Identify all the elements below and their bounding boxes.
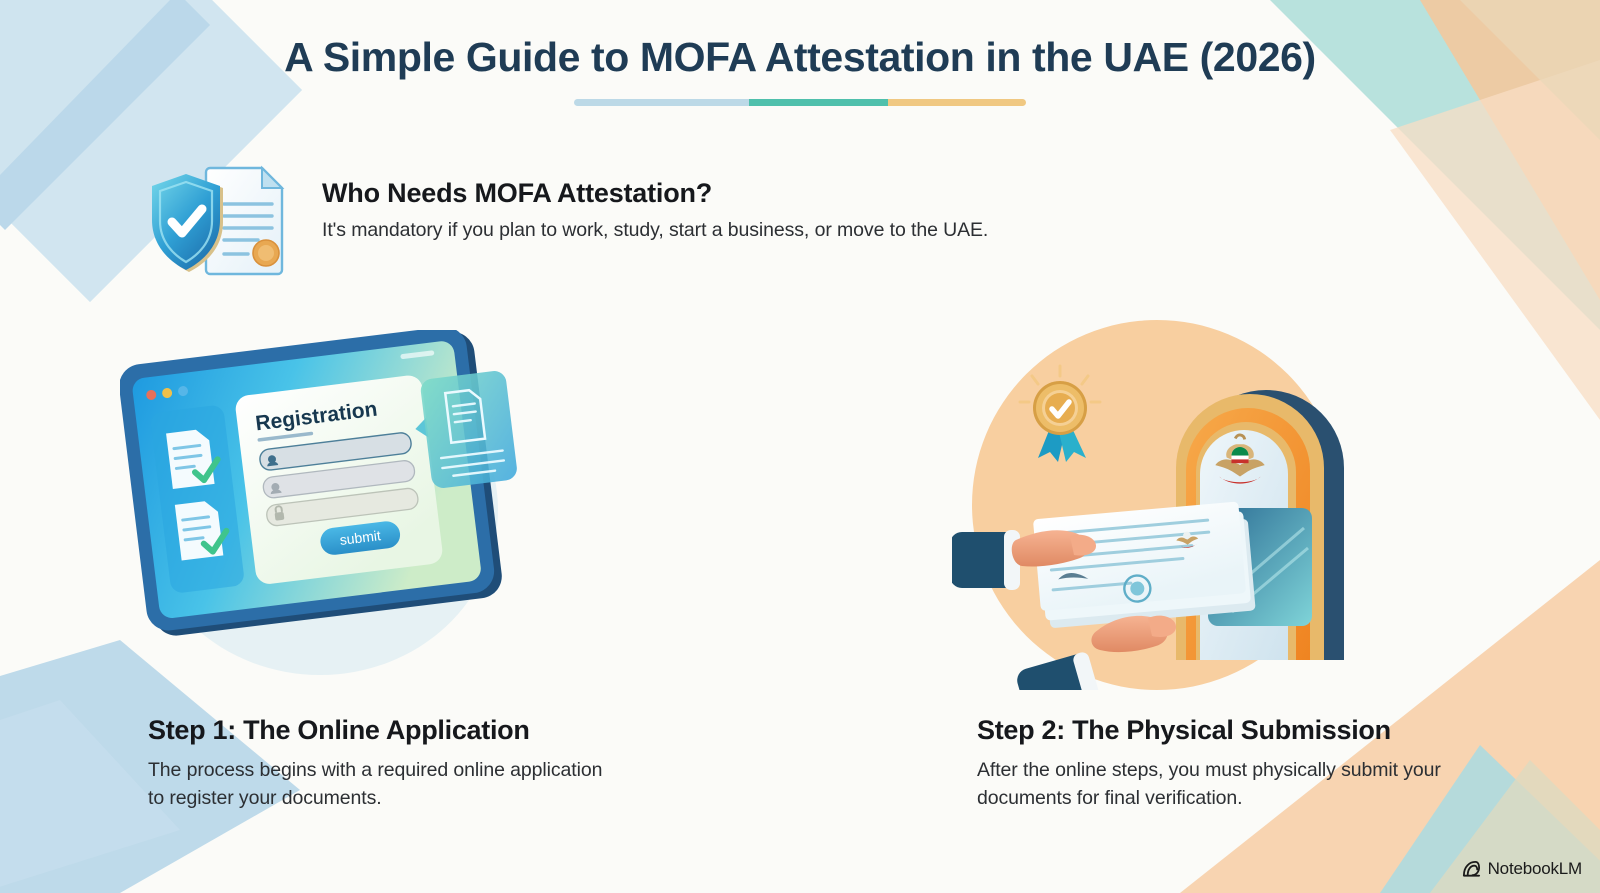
- intro-body: It's mandatory if you plan to work, stud…: [322, 219, 988, 242]
- step-1-block: Registration submit: [120, 330, 590, 680]
- accent-segment-gold: [888, 99, 1026, 106]
- tablet-registration-form-illustration: Registration submit: [120, 330, 560, 680]
- notebooklm-watermark: NotebookLM: [1462, 859, 1582, 879]
- infographic-canvas: A Simple Guide to MOFA Attestation in th…: [0, 0, 1600, 893]
- title-block: A Simple Guide to MOFA Attestation in th…: [0, 34, 1600, 106]
- accent-segment-light-blue: [574, 99, 749, 106]
- intro-heading: Who Needs MOFA Attestation?: [322, 178, 988, 209]
- accent-segment-teal: [749, 99, 887, 106]
- notebooklm-spiral-icon: [1462, 860, 1481, 879]
- page-title: A Simple Guide to MOFA Attestation in th…: [0, 34, 1600, 81]
- counter-hands-documents-illustration: [952, 300, 1422, 690]
- document-stack: [1033, 501, 1256, 629]
- watermark-label: NotebookLM: [1488, 859, 1582, 879]
- step-2-body: After the online steps, you must physica…: [977, 757, 1497, 812]
- intro-section: Who Needs MOFA Attestation? It's mandato…: [148, 160, 1248, 278]
- step-1-caption: Step 1: The Online Application The proce…: [148, 715, 608, 812]
- step-2-title: Step 2: The Physical Submission: [977, 715, 1497, 746]
- step-1-body: The process begins with a required onlin…: [148, 757, 608, 812]
- step-2-block: Step 2: The Physical Submission After th…: [952, 300, 1472, 690]
- step-2-caption: Step 2: The Physical Submission After th…: [977, 715, 1497, 812]
- accent-bar: [574, 99, 1026, 106]
- shield-check-document-icon: [148, 160, 296, 278]
- intro-text: Who Needs MOFA Attestation? It's mandato…: [322, 160, 988, 242]
- step-1-title: Step 1: The Online Application: [148, 715, 608, 746]
